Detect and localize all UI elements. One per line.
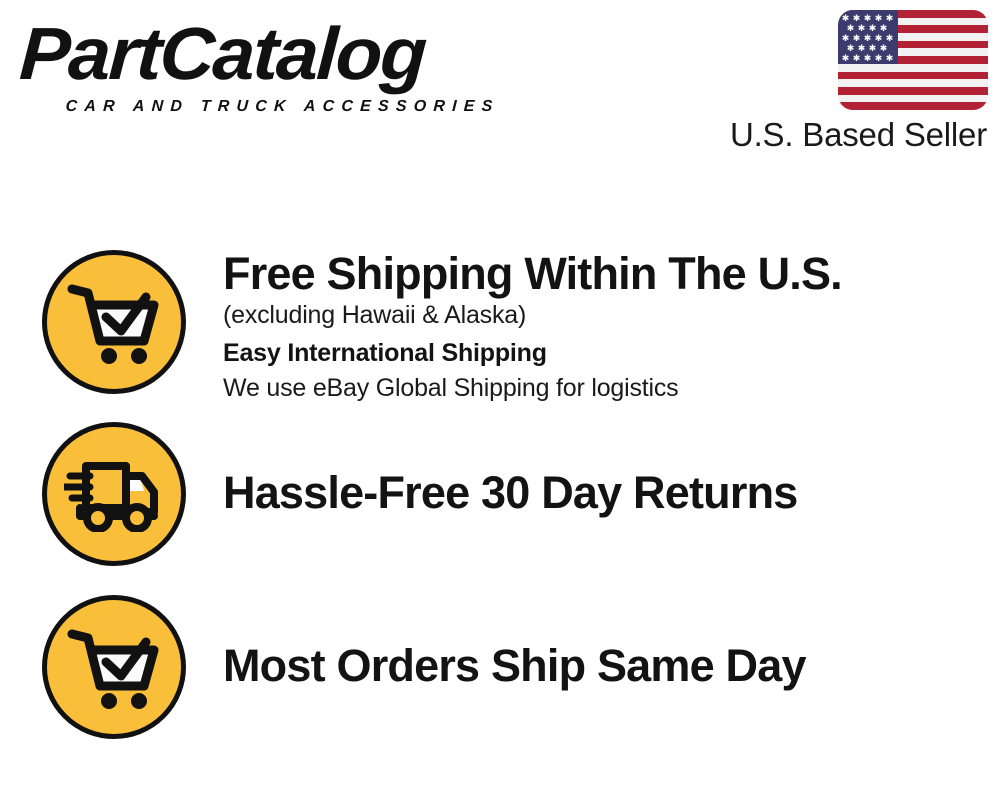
flag-star: ✱ [863,14,872,23]
shopping-cart-check-icon [42,250,186,394]
flag-stripe [838,64,988,72]
brand-tagline: CAR AND TRUCK ACCESSORIES [65,98,500,116]
delivery-truck-icon [42,422,186,566]
feature-row-returns: Hassle-Free 30 Day Returns [0,420,1000,570]
flag-star: ✱ [874,34,883,43]
feature-row-same-day-shipping: Most Orders Ship Same Day [0,593,1000,743]
flag-star: ✱ [846,24,855,33]
international-shipping-detail: We use eBay Global Shipping for logistic… [223,371,678,405]
flag-star: ✱ [852,14,861,23]
flag-star: ✱ [841,54,850,63]
international-shipping-heading: Easy International Shipping [223,336,547,370]
flag-star: ✱ [863,34,872,43]
partcatalog-logo: PartCatalog CAR AND TRUCK ACCESSORIES [22,18,492,113]
flag-star: ✱ [879,24,888,33]
flag-stripe [838,72,988,80]
flag-stripe [838,87,988,95]
flag-canton: ✱ ✱ ✱ ✱ ✱ ✱ ✱ ✱ ✱ ✱ ✱ ✱ ✱ ✱ ✱ ✱ ✱ ✱ [838,10,898,64]
flag-star: ✱ [885,54,894,63]
flag-stripe [838,102,988,110]
promo-banner: PartCatalog CAR AND TRUCK ACCESSORIES ✱ … [0,0,1000,800]
flag-stripe [838,79,988,87]
flag-star: ✱ [863,54,872,63]
same-day-headline: Most Orders Ship Same Day [223,640,806,692]
free-shipping-exclusion-note: (excluding Hawaii & Alaska) [223,298,526,332]
flag-star: ✱ [857,24,866,33]
flag-star: ✱ [874,14,883,23]
flag-star: ✱ [857,44,866,53]
feature-row-free-shipping: Free Shipping Within The U.S. (excluding… [0,248,1000,400]
flag-star: ✱ [841,14,850,23]
us-based-seller-label: U.S. Based Seller [600,116,987,154]
flag-star: ✱ [852,54,861,63]
returns-headline: Hassle-Free 30 Day Returns [223,467,797,519]
flag-star: ✱ [868,24,877,33]
flag-star: ✱ [879,44,888,53]
flag-star: ✱ [885,34,894,43]
free-shipping-headline: Free Shipping Within The U.S. [223,248,842,300]
shopping-cart-check-icon [42,595,186,739]
flag-star: ✱ [874,54,883,63]
banner-header: PartCatalog CAR AND TRUCK ACCESSORIES ✱ … [0,0,1000,170]
flag-star: ✱ [846,44,855,53]
flag-star: ✱ [868,44,877,53]
flag-star: ✱ [852,34,861,43]
brand-wordmark: PartCatalog [18,14,427,94]
us-flag-icon: ✱ ✱ ✱ ✱ ✱ ✱ ✱ ✱ ✱ ✱ ✱ ✱ ✱ ✱ ✱ ✱ ✱ ✱ [838,10,988,110]
flag-star: ✱ [841,34,850,43]
flag-stripe [838,95,988,103]
flag-star: ✱ [885,14,894,23]
